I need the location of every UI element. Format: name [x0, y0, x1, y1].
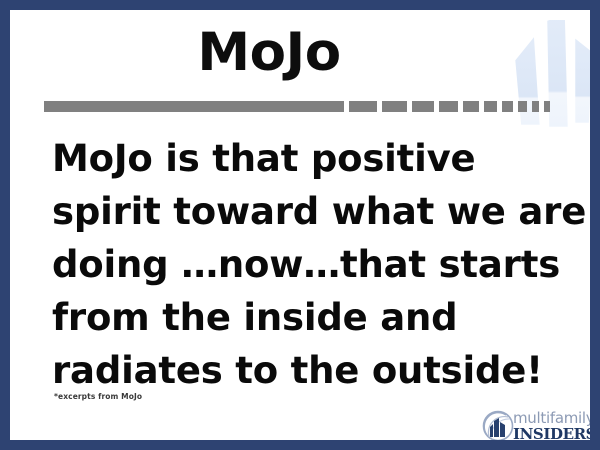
body-line: doing …now…that starts	[52, 238, 552, 291]
multifamily-insiders-logo: multifamily INSIDERS	[482, 406, 594, 446]
slide-canvas: MoJo MoJo is that positive spirit toward…	[0, 0, 600, 450]
divider-dash-segment	[484, 101, 497, 112]
body-line: spirit toward what we are	[52, 185, 552, 238]
divider-dash-segment	[439, 101, 458, 112]
logo-word-insiders: INSIDERS	[513, 426, 595, 442]
slide-content-area: MoJo MoJo is that positive spirit toward…	[20, 20, 600, 450]
logo-word-multifamily: multifamily	[513, 411, 595, 426]
logo-emblem-icon	[482, 410, 514, 442]
divider-dash-segment	[502, 101, 513, 112]
divider-dash-segment	[544, 101, 550, 112]
divider-dash-segment	[518, 101, 527, 112]
divider-dash-segment	[412, 101, 434, 112]
page-title: MoJo	[20, 26, 518, 79]
building-towers-watermark	[508, 20, 600, 134]
body-text: MoJo is that positive spirit toward what…	[52, 132, 552, 397]
body-line: MoJo is that positive	[52, 132, 552, 185]
body-line: from the inside and	[52, 291, 552, 344]
footnote-source: *excerpts from MoJo	[54, 392, 142, 401]
divider-bar	[44, 101, 524, 112]
divider-dash-segment	[349, 101, 377, 112]
divider-solid-segment	[44, 101, 344, 112]
logo-wordmark: multifamily INSIDERS	[513, 411, 595, 442]
divider-dash-segment	[463, 101, 479, 112]
body-line: radiates to the outside!	[52, 344, 552, 397]
divider-dash-segment	[382, 101, 407, 112]
divider-dash-segment	[532, 101, 539, 112]
